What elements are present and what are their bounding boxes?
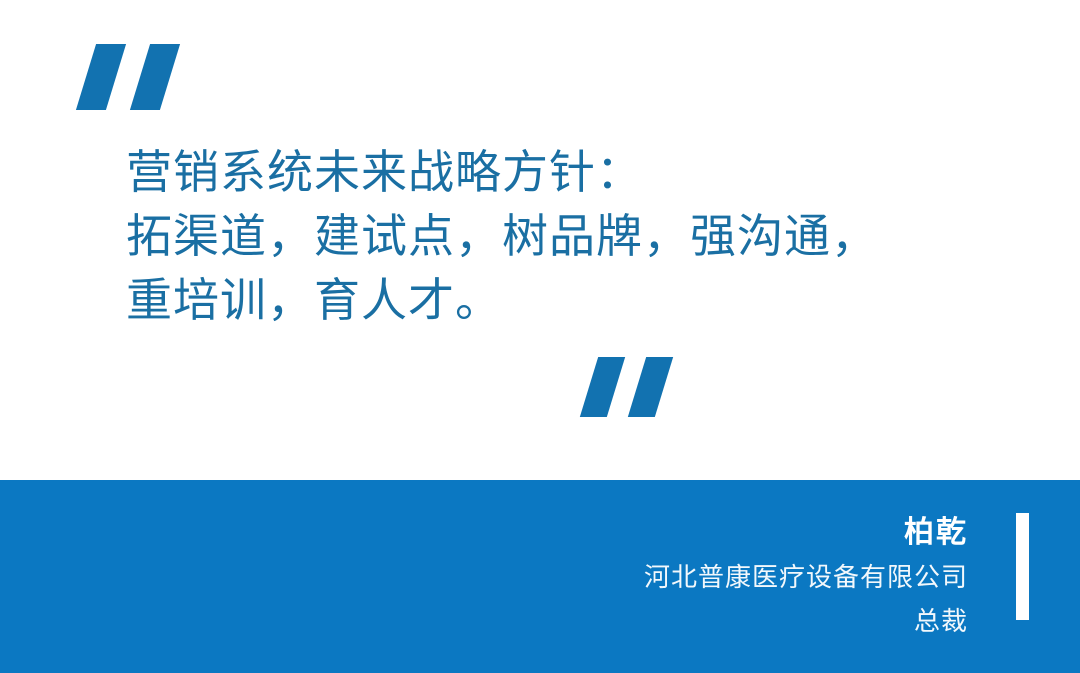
quote-line-3: 重培训，育人才。 bbox=[126, 268, 1026, 332]
attribution-footer: 柏乾 河北普康医疗设备有限公司 总裁 bbox=[0, 480, 1080, 673]
quote-stroke bbox=[76, 44, 126, 110]
quote-text: 营销系统未来战略方针： 拓渠道，建试点，树品牌，强沟通， 重培训，育人才。 bbox=[126, 140, 1026, 332]
quote-line-1: 营销系统未来战略方针： bbox=[126, 140, 1026, 204]
author-title: 总裁 bbox=[914, 599, 968, 643]
quote-line-2: 拓渠道，建试点，树品牌，强沟通， bbox=[126, 204, 1026, 268]
opening-quote-icon bbox=[86, 44, 170, 110]
author-name: 柏乾 bbox=[904, 511, 968, 555]
author-company: 河北普康医疗设备有限公司 bbox=[644, 555, 968, 599]
quote-card: 营销系统未来战略方针： 拓渠道，建试点，树品牌，强沟通， 重培训，育人才。 柏乾… bbox=[0, 0, 1080, 673]
quote-stroke bbox=[628, 357, 673, 417]
closing-quote-icon bbox=[589, 357, 664, 417]
footer-accent-rule bbox=[1016, 513, 1029, 620]
quote-stroke bbox=[580, 357, 625, 417]
quote-stroke bbox=[130, 44, 180, 110]
attribution-block: 柏乾 河北普康医疗设备有限公司 总裁 bbox=[644, 480, 968, 673]
